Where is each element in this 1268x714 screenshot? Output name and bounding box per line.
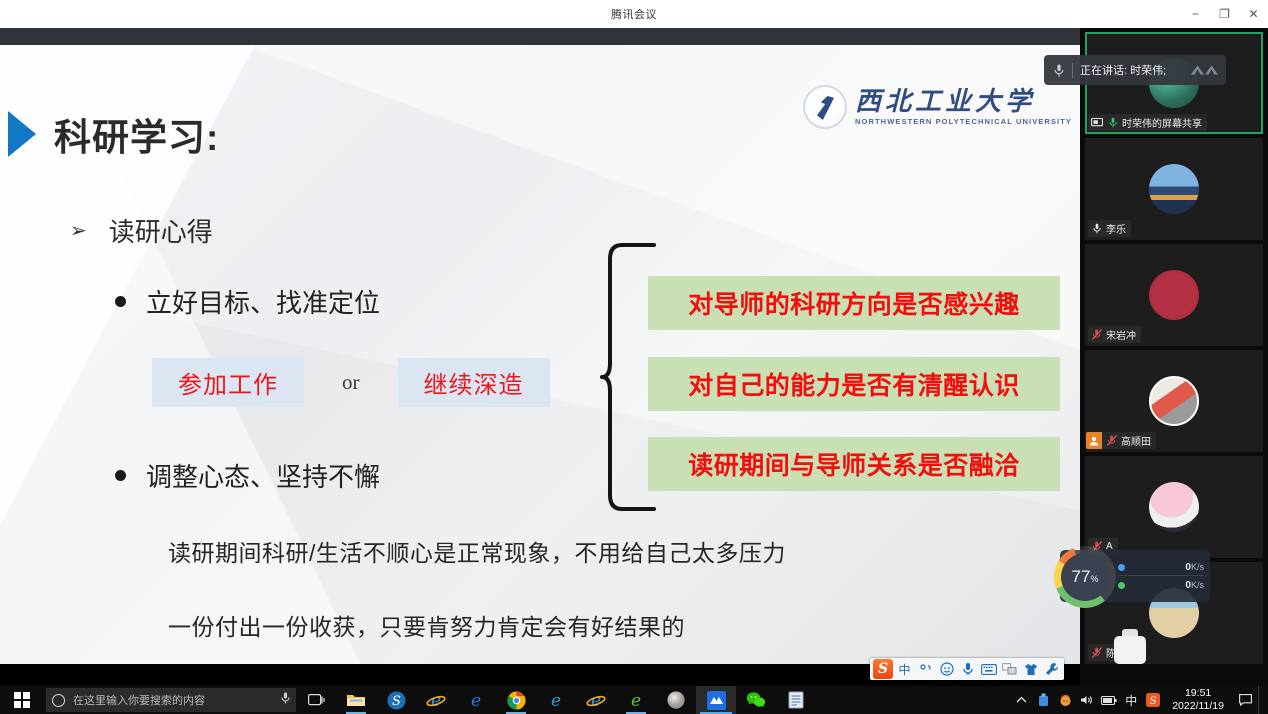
- voice-input-icon[interactable]: [958, 660, 977, 679]
- participant-tile-4[interactable]: A: [1085, 456, 1263, 558]
- round-bullet-icon: [115, 470, 126, 481]
- slide-title: 科研学习:: [8, 107, 219, 161]
- search-input[interactable]: 在这里输入你要搜索的内容: [46, 688, 296, 712]
- taskbar-app-360-browser[interactable]: e: [616, 686, 656, 714]
- taskbar-app-photos[interactable]: [656, 686, 696, 714]
- settings-wrench-icon[interactable]: [1042, 660, 1061, 679]
- microphone-muted-icon: [1105, 434, 1118, 447]
- sogou-logo-icon[interactable]: S: [873, 659, 893, 679]
- network-speed-widget[interactable]: 77% 0K/s 0K/s: [1060, 550, 1210, 602]
- arrow-bullet-icon: ➢: [70, 218, 87, 243]
- microphone-muted-icon: [1090, 646, 1103, 659]
- svg-text:e: e: [431, 691, 441, 709]
- slide-bullet-goal: 立好目标、找准定位: [115, 283, 380, 320]
- speaking-text: 正在讲话: 时荣伟;: [1080, 62, 1166, 78]
- slide-bullet-mindset: 调整心态、坚持不懈: [115, 457, 380, 494]
- window-title: 腾讯会议: [611, 6, 657, 22]
- microphone-muted-icon: [1090, 328, 1103, 341]
- download-unit: K/s: [1191, 580, 1204, 590]
- chinese-mode-toggle[interactable]: 中: [895, 660, 914, 679]
- university-name-cn: 西北工业大学: [855, 89, 1072, 115]
- taskbar-app-internet-explorer-2[interactable]: e: [536, 686, 576, 714]
- task-view-icon[interactable]: [296, 686, 336, 714]
- download-speed-row: 0K/s: [1118, 578, 1204, 593]
- usage-percent: 77%: [1072, 567, 1099, 587]
- punctuation-toggle[interactable]: [916, 660, 935, 679]
- taskbar-app-wechat[interactable]: [736, 686, 776, 714]
- show-hidden-icons-button[interactable]: [1010, 686, 1032, 714]
- security-shield-icon[interactable]: [1054, 686, 1076, 714]
- volume-icon[interactable]: [1076, 686, 1098, 714]
- taskbar-app-tencent-meeting[interactable]: [696, 686, 736, 714]
- participant-nametag-0: 时荣伟的屏幕共享: [1088, 114, 1207, 131]
- taskbar-app-microsoft-edge[interactable]: e: [456, 686, 496, 714]
- speaking-indicator-overlay: 正在讲话: 时荣伟;: [1044, 55, 1226, 85]
- green-question-box-1: 对导师的科研方向是否感兴趣: [648, 276, 1060, 330]
- triangle-bullet-icon: [8, 111, 36, 157]
- restore-button[interactable]: ❐: [1210, 0, 1239, 28]
- svg-text:e: e: [591, 691, 601, 709]
- share-top-band: [0, 28, 1080, 45]
- participant-tile-1[interactable]: 李乐: [1085, 138, 1263, 240]
- svg-text:S: S: [1150, 696, 1157, 707]
- action-center-icon[interactable]: [1232, 686, 1258, 714]
- taskbar-app-internet-explorer-1[interactable]: e: [416, 686, 456, 714]
- title-bar: 腾讯会议 − ❐ ✕: [0, 0, 1268, 28]
- windows-logo-icon: [14, 692, 30, 708]
- overlay-divider: [1072, 63, 1073, 78]
- shared-screen-area[interactable]: 西北工业大学 NORTHWESTERN POLYTECHNICAL UNIVER…: [0, 28, 1080, 664]
- ime-language-icon[interactable]: 中: [1120, 686, 1142, 714]
- participant-nametag-1: 李乐: [1088, 220, 1131, 237]
- participant-nametag-2: 宋岩冲: [1088, 326, 1141, 343]
- avatar: [1149, 376, 1199, 426]
- presentation-slide: 西北工业大学 NORTHWESTERN POLYTECHNICAL UNIVER…: [0, 45, 1080, 664]
- tencent-meeting-watermark-icon: [1191, 66, 1218, 75]
- monitor-icon: [1090, 116, 1103, 129]
- cortana-circle-icon: [52, 694, 65, 707]
- choice-conjunction: or: [342, 370, 360, 395]
- taskbar-app-sogou-browser[interactable]: S: [376, 686, 416, 714]
- career-choice-row: 参加工作 or 继续深造: [152, 358, 550, 407]
- avatar: [1149, 482, 1199, 532]
- slide-note-2: 一份付出一份收获，只要肯努力肯定会有好结果的: [168, 608, 685, 642]
- slide-bullet-mindset-text: 调整心态、坚持不懈: [146, 457, 380, 494]
- university-logo: 西北工业大学 NORTHWESTERN POLYTECHNICAL UNIVER…: [803, 85, 1072, 129]
- microphone-icon: [1106, 116, 1119, 129]
- clock-date: 2022/11/19: [1172, 700, 1224, 713]
- participant-tile-2[interactable]: 宋岩冲: [1085, 244, 1263, 346]
- microphone-icon[interactable]: [281, 691, 290, 709]
- slide-subheading-text: 读研心得: [109, 212, 213, 249]
- skin-icon[interactable]: [1021, 660, 1040, 679]
- taskbar-clock[interactable]: 19:51 2022/11/19: [1164, 687, 1232, 713]
- start-button[interactable]: [0, 686, 44, 714]
- slide-subheading: ➢ 读研心得: [70, 212, 213, 249]
- host-badge-icon: [1086, 432, 1102, 449]
- upload-speed-row: 0K/s: [1118, 560, 1204, 576]
- participant-name-3: 高顺田: [1121, 433, 1151, 448]
- upload-unit: K/s: [1191, 562, 1204, 572]
- upload-icon: [1118, 564, 1125, 571]
- participant-nametag-3: 高顺田: [1088, 432, 1156, 449]
- participant-tile-3[interactable]: 高顺田: [1085, 350, 1263, 452]
- microphone-icon: [1052, 64, 1065, 77]
- minimize-button[interactable]: −: [1181, 0, 1210, 28]
- soft-keyboard-icon[interactable]: [979, 660, 998, 679]
- svg-text:e: e: [551, 691, 561, 709]
- round-bullet-icon: [115, 296, 126, 307]
- svg-text:e: e: [471, 691, 481, 709]
- cpu-usage-ring: 77%: [1054, 546, 1116, 608]
- show-desktop-button[interactable]: [1258, 686, 1266, 714]
- participant-name-1: 李乐: [1106, 221, 1126, 236]
- taskbar-app-google-chrome[interactable]: [496, 686, 536, 714]
- slide-bullet-goal-text: 立好目标、找准定位: [146, 283, 380, 320]
- battery-icon[interactable]: [1098, 686, 1120, 714]
- avatar: [1149, 270, 1199, 320]
- university-name-en: NORTHWESTERN POLYTECHNICAL UNIVERSITY: [855, 118, 1072, 126]
- taskbar-app-file-explorer[interactable]: [336, 686, 376, 714]
- window-controls: − ❐ ✕: [1181, 0, 1268, 28]
- usb-device-popup-icon: [1110, 628, 1150, 668]
- search-placeholder: 在这里输入你要搜索的内容: [73, 692, 273, 708]
- participant-name-2: 宋岩冲: [1106, 327, 1136, 342]
- clock-time: 19:51: [1172, 687, 1224, 700]
- slide-note-1: 读研期间科研/生活不顺心是正常现象，不用给自己太多压力: [168, 534, 786, 568]
- sogou-tray-icon[interactable]: S: [1142, 686, 1164, 714]
- choice-work-chip: 参加工作: [152, 358, 304, 407]
- system-tray[interactable]: 中 S 19:51 2022/11/19: [1010, 686, 1268, 714]
- avatar: [1149, 164, 1199, 214]
- taskbar-app-wps-office[interactable]: [776, 686, 816, 714]
- choice-further-study-chip: 继续深造: [398, 358, 550, 407]
- university-emblem-icon: [803, 85, 847, 129]
- taskbar-app-internet-explorer-3[interactable]: e: [576, 686, 616, 714]
- windows-taskbar[interactable]: 在这里输入你要搜索的内容 S e e e e e: [0, 686, 1268, 714]
- sogou-ime-toolbar[interactable]: S 中: [870, 658, 1064, 680]
- participant-name-0: 时荣伟的屏幕共享: [1122, 115, 1202, 130]
- svg-text:S: S: [392, 694, 401, 709]
- usb-device-icon[interactable]: [1032, 686, 1054, 714]
- green-question-box-2: 对自己的能力是否有清醒认识: [648, 357, 1060, 411]
- close-button[interactable]: ✕: [1239, 0, 1268, 28]
- tencent-meeting-window: 腾讯会议 − ❐ ✕ 西北工业大学 NORTHWESTERN POLYTECHN…: [0, 0, 1268, 714]
- emoji-icon[interactable]: [937, 660, 956, 679]
- download-icon: [1118, 582, 1125, 589]
- microphone-icon: [1090, 222, 1103, 235]
- slide-title-text: 科研学习:: [54, 107, 219, 161]
- svg-text:e: e: [631, 691, 641, 709]
- screenshot-icon[interactable]: [1000, 660, 1019, 679]
- green-question-box-3: 读研期间与导师关系是否融洽: [648, 437, 1060, 491]
